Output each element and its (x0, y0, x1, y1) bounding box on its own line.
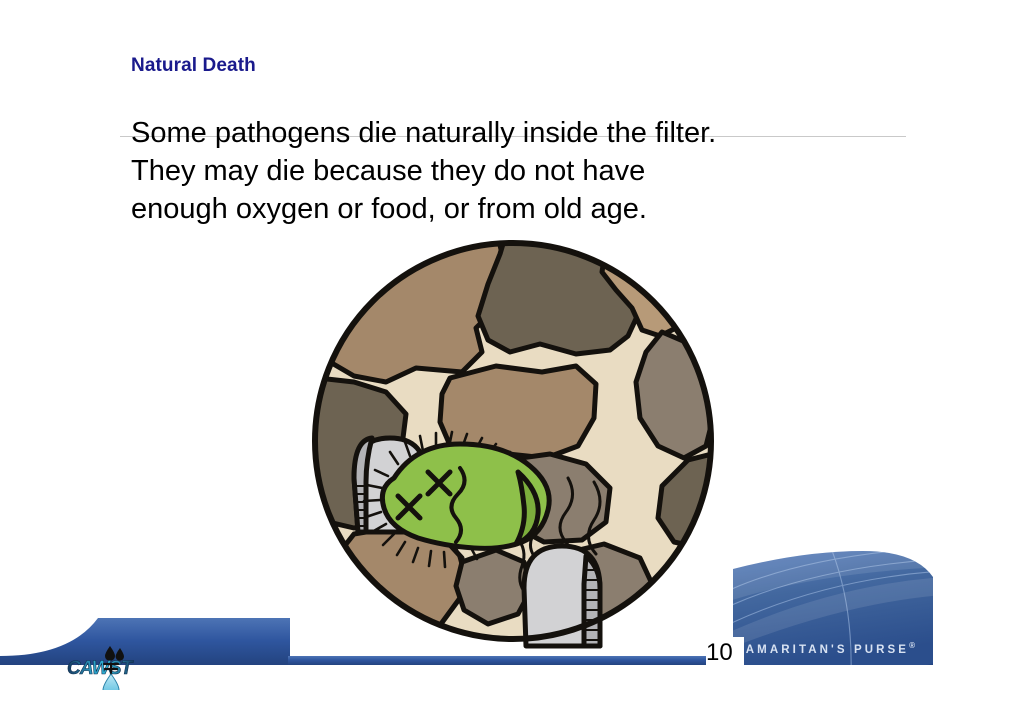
page-title: Natural Death (131, 55, 256, 77)
svg-text:CAWST: CAWST (67, 658, 134, 679)
cawst-logo: CAWST (66, 644, 158, 690)
registered-trademark-mark: ® (909, 641, 915, 650)
swoosh-decoration-left (0, 600, 420, 680)
microscope-view-illustration (310, 232, 720, 656)
organization-wordmark: SAMARITAN'S PURSE® (735, 641, 915, 656)
organization-wordmark-text: SAMARITAN'S PURSE (735, 644, 909, 656)
slide-canvas: Natural Death Some pathogens die natural… (0, 0, 1024, 724)
body-text: Some pathogens die naturally inside the … (131, 114, 931, 228)
page-number: 10 (706, 637, 744, 671)
